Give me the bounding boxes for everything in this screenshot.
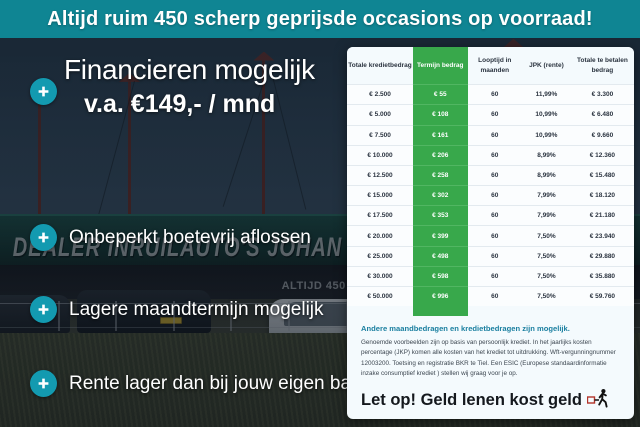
rates-card: Totale kredietbedragTermijn bedragLoopti… — [347, 47, 634, 419]
table-cell-totaal: € 35.880 — [571, 266, 634, 286]
table-row: € 10.000€ 206608,99%€ 12.360 — [347, 145, 634, 165]
table-column-header: Looptijd in maanden — [468, 47, 523, 85]
table-row: € 12.500€ 258608,99%€ 15.480 — [347, 165, 634, 185]
table-cell-krediet: € 7.500 — [347, 125, 413, 145]
table-cell-termijn: € 598 — [413, 266, 468, 286]
table-cell-krediet: € 25.000 — [347, 246, 413, 266]
table-cell-totaal: € 23.940 — [571, 226, 634, 246]
table-cell-termijn: € 996 — [413, 287, 468, 307]
table-column-header: JPK (rente) — [522, 47, 571, 85]
table-cell-jkp: 11,99% — [522, 85, 571, 105]
feature-bullet: Onbeperkt boetevrij aflossen — [30, 224, 311, 251]
table-cell-totaal: € 29.880 — [571, 246, 634, 266]
table-cell-totaal: € 6.480 — [571, 105, 634, 125]
loan-warning: Let op! Geld lenen kost geld — [361, 388, 620, 413]
table-cell-jkp: 7,50% — [522, 226, 571, 246]
table-cell-totaal: € 21.180 — [571, 206, 634, 226]
disclaimer-block: Andere maandbedragen en kredietbedragen … — [347, 316, 634, 379]
table-row: € 17.500€ 353607,99%€ 21.180 — [347, 206, 634, 226]
plus-icon — [30, 370, 57, 397]
table-cell-jkp: 7,99% — [522, 186, 571, 206]
table-cell-krediet: € 15.000 — [347, 186, 413, 206]
table-cell-looptijd: 60 — [468, 145, 523, 165]
table-cell-jkp: 10,99% — [522, 105, 571, 125]
rates-table: Totale kredietbedragTermijn bedragLoopti… — [347, 47, 634, 306]
promo-banner-image: DEALER INRUILAUTO'S JOHAN MEURE ALTIJD 4… — [0, 0, 640, 427]
table-cell-totaal: € 18.120 — [571, 186, 634, 206]
table-cell-looptijd: 60 — [468, 246, 523, 266]
table-cell-jkp: 7,50% — [522, 287, 571, 307]
table-cell-looptijd: 60 — [468, 165, 523, 185]
table-cell-totaal: € 15.480 — [571, 165, 634, 185]
feature-bullet-label: Rente lager dan bij jouw eigen bank — [69, 373, 371, 395]
table-cell-krediet: € 30.000 — [347, 266, 413, 286]
table-cell-krediet: € 17.500 — [347, 206, 413, 226]
table-column-header: Termijn bedrag — [413, 47, 468, 85]
table-cell-termijn: € 353 — [413, 206, 468, 226]
table-cell-jkp: 8,99% — [522, 165, 571, 185]
table-cell-jkp: 7,50% — [522, 246, 571, 266]
table-cell-termijn: € 498 — [413, 246, 468, 266]
features-column: Financieren mogelijk v.a. €149,- / mnd O… — [0, 38, 348, 427]
running-man-icon — [587, 388, 609, 413]
table-cell-looptijd: 60 — [468, 266, 523, 286]
headline-sub: v.a. €149,- / mnd — [30, 90, 345, 119]
table-cell-termijn: € 302 — [413, 186, 468, 206]
table-row: € 5.000€ 1086010,99%€ 6.480 — [347, 105, 634, 125]
table-cell-jkp: 8,99% — [522, 145, 571, 165]
table-cell-krediet: € 12.500 — [347, 165, 413, 185]
table-row: € 25.000€ 498607,50%€ 29.880 — [347, 246, 634, 266]
table-cell-looptijd: 60 — [468, 85, 523, 105]
table-cell-termijn: € 55 — [413, 85, 468, 105]
table-cell-krediet: € 50.000 — [347, 287, 413, 307]
table-cell-totaal: € 9.660 — [571, 125, 634, 145]
banner-text: Altijd ruim 450 scherp geprijsde occasio… — [47, 8, 593, 31]
table-cell-looptijd: 60 — [468, 206, 523, 226]
top-banner: Altijd ruim 450 scherp geprijsde occasio… — [0, 0, 640, 38]
disclaimer-body: Genoemde voorbeelden zijn op basis van p… — [361, 338, 620, 379]
loan-warning-text: Let op! Geld lenen kost geld — [361, 391, 582, 410]
table-cell-jkp: 7,99% — [522, 206, 571, 226]
table-column-header: Totale te betalen bedrag — [571, 47, 634, 85]
table-row: € 50.000€ 996607,50%€ 59.760 — [347, 287, 634, 307]
table-cell-termijn: € 258 — [413, 165, 468, 185]
table-cell-looptijd: 60 — [468, 226, 523, 246]
table-cell-termijn: € 399 — [413, 226, 468, 246]
table-row: € 30.000€ 598607,50%€ 35.880 — [347, 266, 634, 286]
table-cell-looptijd: 60 — [468, 186, 523, 206]
table-cell-totaal: € 12.360 — [571, 145, 634, 165]
table-cell-jkp: 7,50% — [522, 266, 571, 286]
feature-bullet-label: Lagere maandtermijn mogelijk — [69, 299, 324, 321]
headline-block: Financieren mogelijk v.a. €149,- / mnd — [30, 54, 345, 119]
disclaimer-title: Andere maandbedragen en kredietbedragen … — [361, 324, 620, 333]
table-cell-termijn: € 206 — [413, 145, 468, 165]
table-cell-termijn: € 161 — [413, 125, 468, 145]
table-cell-totaal: € 59.760 — [571, 287, 634, 307]
table-cell-krediet: € 5.000 — [347, 105, 413, 125]
table-column-header: Totale kredietbedrag — [347, 47, 413, 85]
headline-main: Financieren mogelijk — [30, 54, 345, 86]
feature-bullet: Lagere maandtermijn mogelijk — [30, 296, 324, 323]
table-row: € 20.000€ 399607,50%€ 23.940 — [347, 226, 634, 246]
table-header-row: Totale kredietbedragTermijn bedragLoopti… — [347, 47, 634, 85]
table-tail — [347, 306, 634, 316]
table-cell-krediet: € 2.500 — [347, 85, 413, 105]
feature-bullet: Rente lager dan bij jouw eigen bank — [30, 370, 371, 397]
table-cell-termijn: € 108 — [413, 105, 468, 125]
table-row: € 2.500€ 556011,99%€ 3.300 — [347, 85, 634, 105]
table-cell-looptijd: 60 — [468, 105, 523, 125]
table-cell-looptijd: 60 — [468, 125, 523, 145]
plus-icon — [30, 224, 57, 251]
table-cell-totaal: € 3.300 — [571, 85, 634, 105]
feature-bullet-label: Onbeperkt boetevrij aflossen — [69, 227, 311, 249]
table-row: € 7.500€ 1616010,99%€ 9.660 — [347, 125, 634, 145]
table-cell-jkp: 10,99% — [522, 125, 571, 145]
table-cell-looptijd: 60 — [468, 287, 523, 307]
table-cell-krediet: € 10.000 — [347, 145, 413, 165]
table-row: € 15.000€ 302607,99%€ 18.120 — [347, 186, 634, 206]
table-cell-krediet: € 20.000 — [347, 226, 413, 246]
plus-icon — [30, 296, 57, 323]
